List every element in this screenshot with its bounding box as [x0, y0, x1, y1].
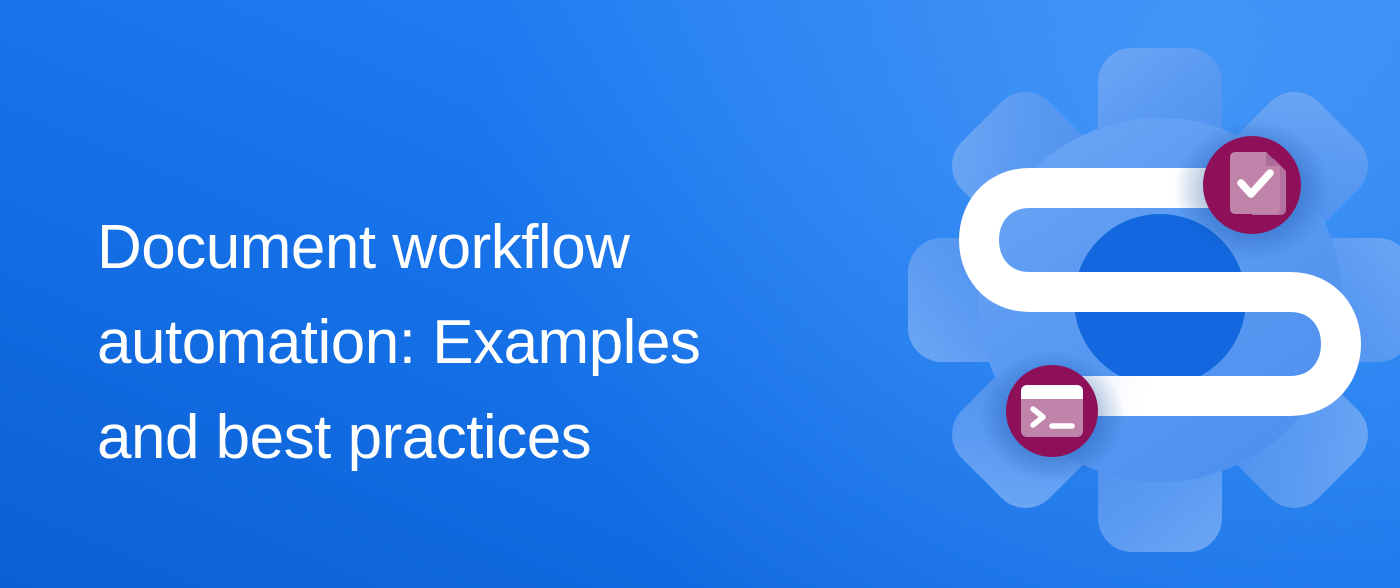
document-check-badge[interactable]	[1203, 136, 1301, 234]
page-title: Document workflow automation: Examples a…	[97, 200, 897, 485]
headline-line-3: and best practices	[97, 390, 897, 485]
terminal-badge[interactable]	[1006, 365, 1098, 457]
hero-illustration	[900, 8, 1400, 588]
banner-canvas: Document workflow automation: Examples a…	[0, 0, 1400, 588]
headline-line-2: automation: Examples	[97, 295, 897, 390]
terminal-icon	[1021, 385, 1083, 437]
headline-line-1: Document workflow	[97, 200, 897, 295]
